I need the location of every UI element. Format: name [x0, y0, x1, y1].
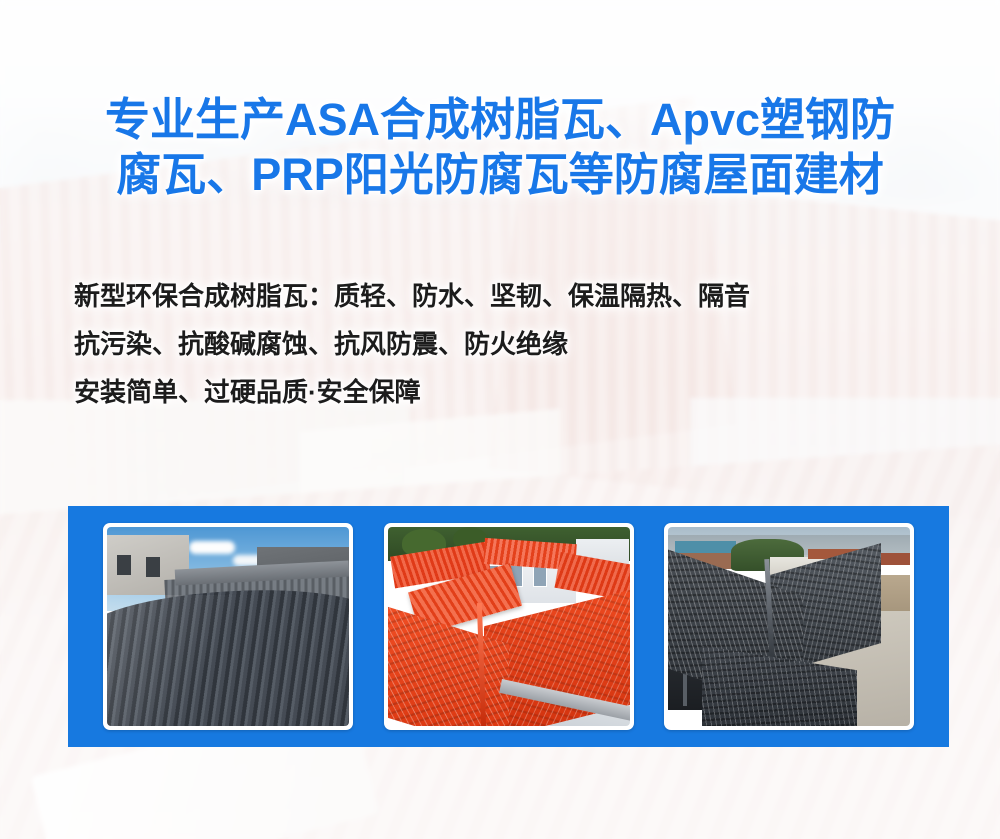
subheadline-line-3: 安装简单、过硬品质·安全保障	[74, 368, 974, 416]
headline: 专业生产ASA合成树脂瓦、Apvc塑钢防 腐瓦、PRP阳光防腐瓦等防腐屋面建材	[0, 92, 1000, 202]
subheadline-line-2: 抗污染、抗酸碱腐蚀、抗风防震、防火绝缘	[74, 320, 974, 368]
photo-1-frame	[107, 527, 349, 726]
photo-1-cloud	[189, 541, 235, 554]
photo-3-frame	[668, 527, 910, 726]
gallery-photo-3[interactable]	[664, 523, 914, 730]
subheadline: 新型环保合成树脂瓦：质轻、防水、坚韧、保温隔热、隔音 抗污染、抗酸碱腐蚀、抗风防…	[74, 272, 974, 416]
photo-2-frame	[388, 527, 630, 726]
product-banner: 专业生产ASA合成树脂瓦、Apvc塑钢防 腐瓦、PRP阳光防腐瓦等防腐屋面建材 …	[0, 0, 1000, 839]
photo-2-window	[533, 565, 548, 587]
photo-1-sheen	[107, 595, 349, 726]
subheadline-line-1: 新型环保合成树脂瓦：质轻、防水、坚韧、保温隔热、隔音	[74, 272, 974, 320]
headline-line-2: 腐瓦、PRP阳光防腐瓦等防腐屋面建材	[0, 147, 1000, 202]
photo-gallery-band	[68, 506, 949, 747]
photo-1-window	[146, 557, 161, 577]
gallery-photo-1[interactable]	[103, 523, 353, 730]
gallery-photo-2[interactable]	[384, 523, 634, 730]
headline-line-1: 专业生产ASA合成树脂瓦、Apvc塑钢防	[0, 92, 1000, 147]
photo-1-window	[117, 555, 132, 575]
